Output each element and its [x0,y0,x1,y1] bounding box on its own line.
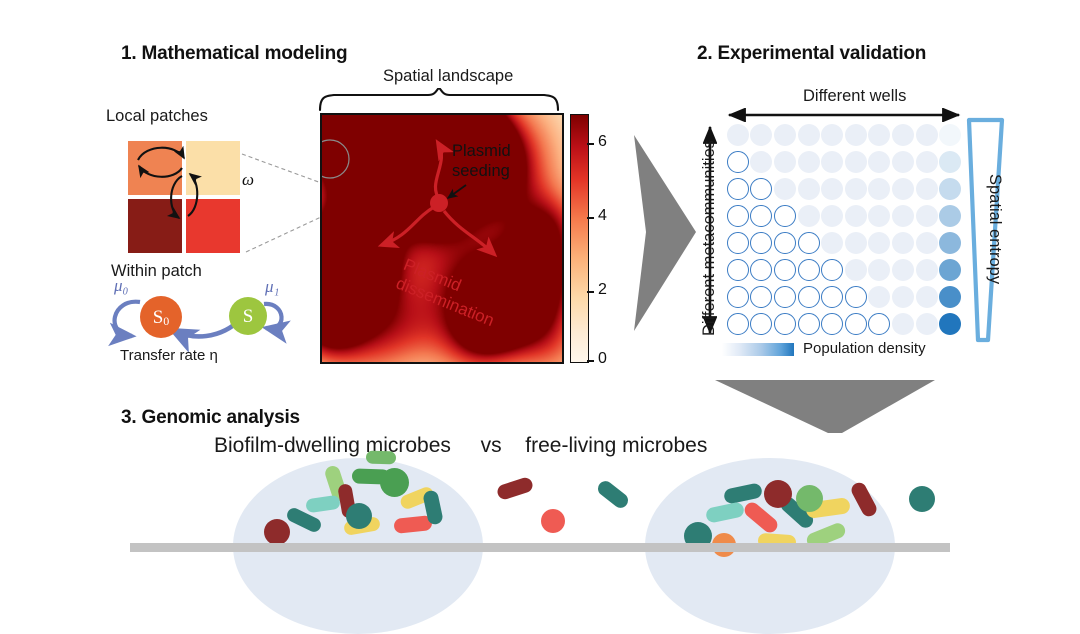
microbe-coccus [346,503,372,529]
substrate-surface [130,543,950,552]
microbe-coccus [796,485,823,512]
figure-canvas: 1. Mathematical modeling Local patches ω… [0,0,1080,607]
microbe-rod [366,450,396,464]
microbe-coccus [264,519,290,545]
free-living-microbe [909,486,935,512]
microbe-coccus [380,468,409,497]
biofilm-scene [0,0,1080,607]
free-living-microbe [595,478,631,511]
microbe-coccus [764,480,792,508]
free-living-microbe [496,476,535,501]
free-living-microbe [541,509,565,533]
